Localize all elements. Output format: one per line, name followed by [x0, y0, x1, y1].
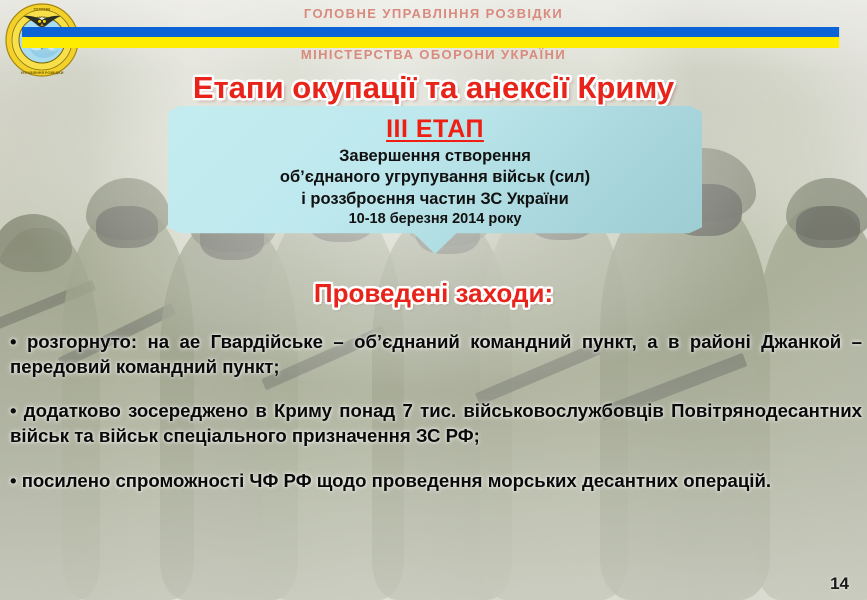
page-number: 14 [830, 574, 849, 594]
header-agency-line-2: МІНІСТЕРСТВА ОБОРОНИ УКРАЇНИ [0, 47, 867, 62]
list-item: додатково зосереджено в Криму понад 7 ти… [10, 399, 862, 448]
header-agency-line-1: ГОЛОВНЕ УПРАВЛІННЯ РОЗВІДКИ [0, 6, 867, 21]
stage-description-line-3: і роззброєння частин ЗС України [168, 189, 702, 210]
presentation-slide: ГОЛОВНЕ УПРАВЛІННЯ РОЗВІДКИ ГОЛОВНЕ УПРА… [0, 0, 867, 600]
list-item: розгорнуто: на ае Гвардійське – об’єднан… [10, 330, 862, 379]
measures-subheading: Проведені заходи: [0, 278, 867, 309]
stage-description: Завершення створення об’єднаного угрупув… [168, 146, 702, 210]
stage-number: III ЕТАП [168, 115, 702, 144]
stage-description-line-2: об’єднаного угрупування військ (сил) [168, 167, 702, 188]
stage-date-range: 10-18 березня 2014 року [168, 211, 702, 227]
ukraine-flag-blue-band [22, 27, 840, 37]
stage-banner-content: III ЕТАП Завершення створення об’єднаног… [168, 106, 702, 254]
stage-description-line-1: Завершення створення [168, 146, 702, 167]
slide-title: Етапи окупації та анексії Криму [0, 70, 867, 106]
list-item: посилено спроможності ЧФ РФ щодо проведе… [10, 469, 862, 494]
measures-list: розгорнуто: на ае Гвардійське – об’єднан… [10, 330, 862, 514]
